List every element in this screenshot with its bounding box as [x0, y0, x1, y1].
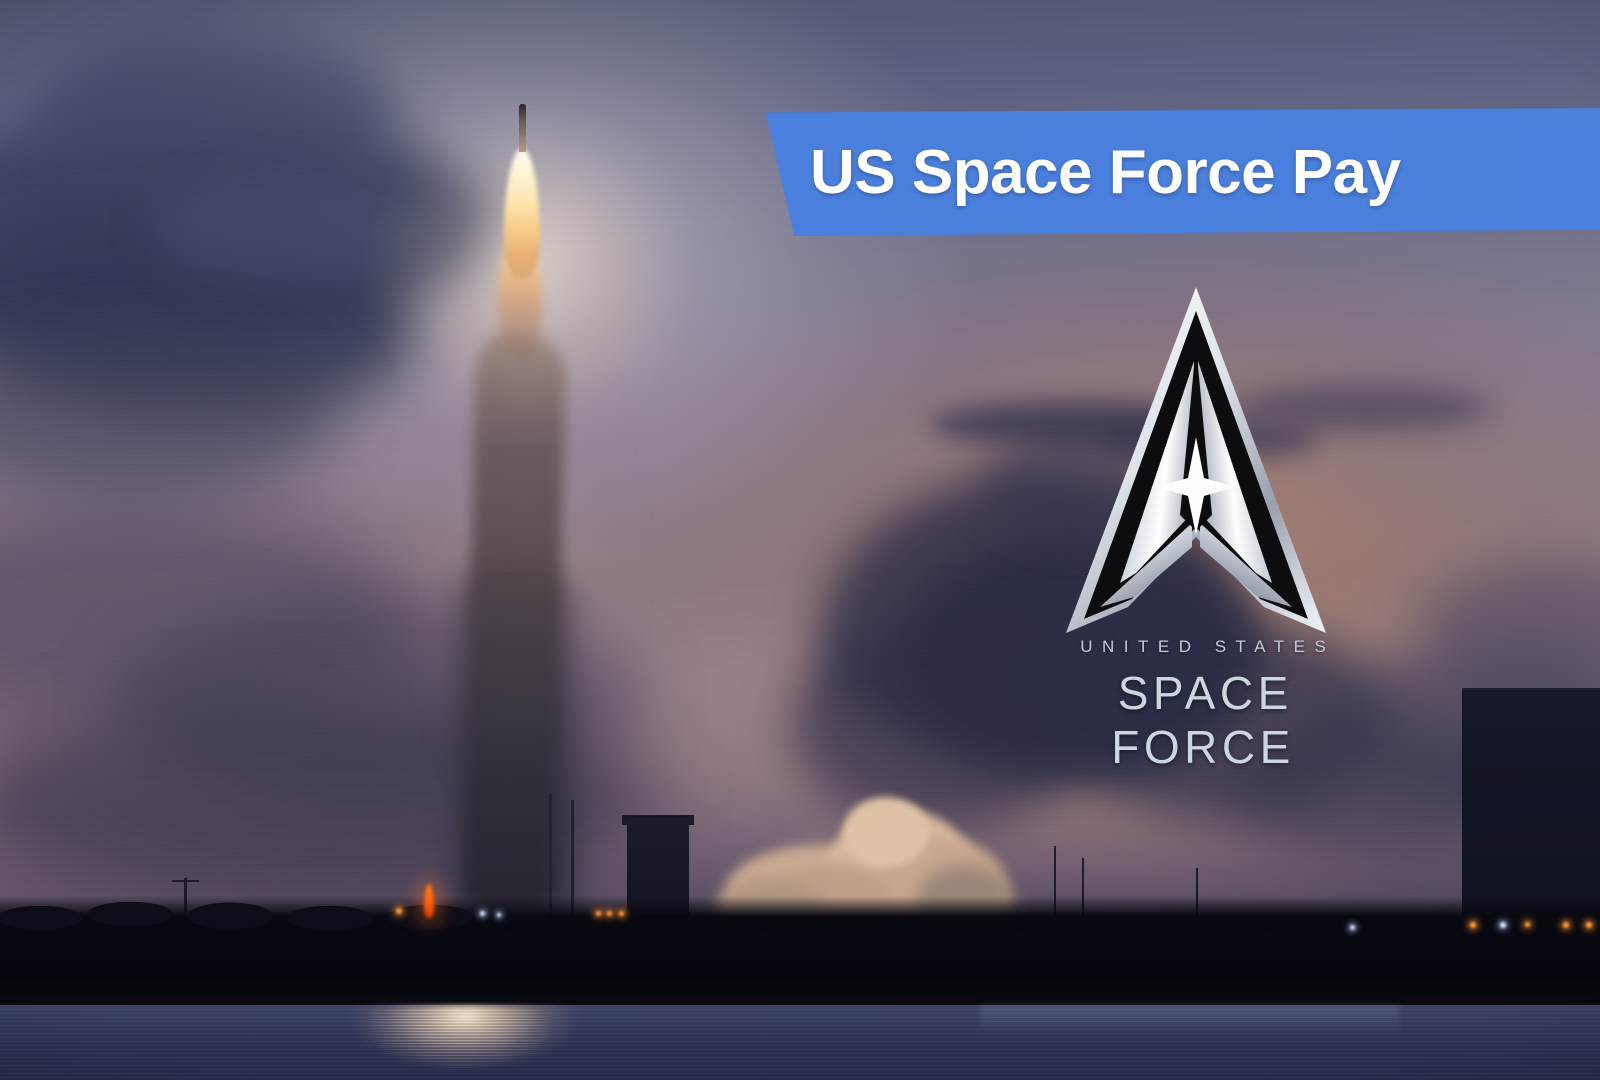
wordmark-united-states: UNITED STATES: [1028, 637, 1378, 657]
cloud-upper-left-2: [40, 40, 400, 190]
building-light: [1586, 922, 1592, 928]
plume-puff: [843, 797, 929, 867]
water-reflection-sparkle: [330, 1010, 590, 1080]
screenshot-canvas: US Space Force Pay: [0, 0, 1600, 1080]
utility-pole-crossarm: [172, 880, 199, 882]
title-banner: US Space Force Pay: [752, 108, 1600, 240]
pad-light: [497, 913, 501, 917]
ground-strip: [0, 930, 1600, 1010]
pad-light: [1350, 925, 1355, 930]
pad-light: [619, 911, 624, 916]
wordmark-space-force: SPACE FORCE: [1028, 666, 1378, 774]
building-light: [1563, 922, 1569, 928]
building-light: [1470, 922, 1476, 928]
title-banner-label: US Space Force Pay: [752, 108, 1600, 236]
pad-light: [607, 911, 612, 916]
building-light: [1500, 922, 1506, 928]
rocket-vehicle: [519, 104, 526, 152]
space-force-delta-icon: [1064, 285, 1328, 635]
pad-light: [480, 911, 485, 916]
pad-light: [396, 908, 402, 914]
space-force-wordmark: UNITED STATES SPACE FORCE: [1028, 637, 1378, 774]
space-force-logo: UNITED STATES SPACE FORCE: [1028, 285, 1378, 725]
building-light: [1525, 922, 1530, 927]
water-right-glint: [980, 1005, 1400, 1035]
pad-light: [596, 911, 601, 916]
